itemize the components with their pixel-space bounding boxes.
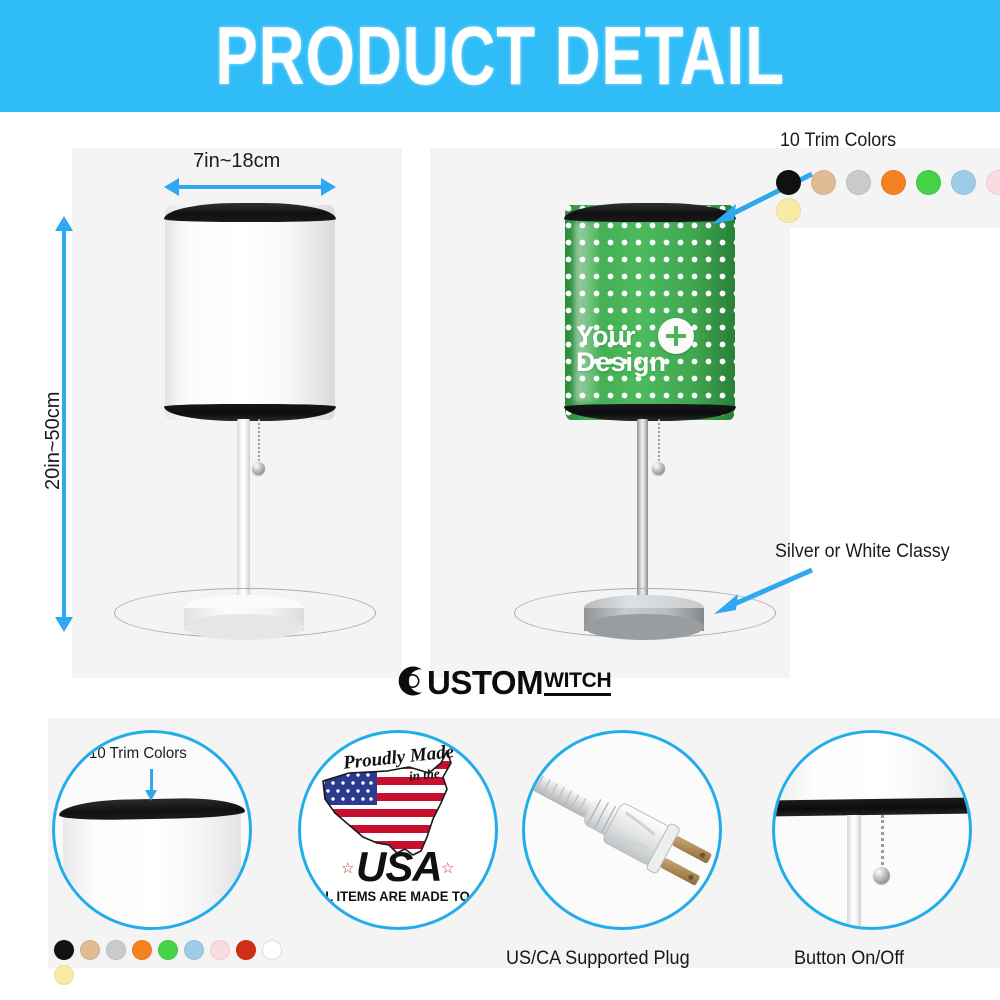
pull-chain-bead[interactable] (252, 462, 265, 475)
trim-swatch-black[interactable] (54, 940, 74, 960)
feature-button-illustration (775, 733, 969, 927)
feature-circle-plug (522, 730, 722, 930)
trim-swatch-row-bottom-1 (54, 940, 282, 960)
trim-swatch-red[interactable] (236, 940, 256, 960)
design-line-1: Your (576, 323, 726, 349)
lampshade-surface-pattern (565, 205, 735, 420)
plus-icon[interactable] (658, 318, 694, 354)
usa-line-4: ALL ITEMS ARE MADE TO ORDER! (308, 889, 498, 904)
trim-top-black (164, 203, 336, 222)
lamp-white (120, 200, 380, 650)
page-title: PRODUCT DETAIL (215, 15, 784, 98)
base-finish-label: Silver or White Classy (775, 541, 950, 563)
caption-plug: US/CA Supported Plug (506, 948, 690, 970)
trim-swatch-tan[interactable] (80, 940, 100, 960)
pull-chain[interactable] (658, 419, 660, 465)
trim-swatch-pink[interactable] (210, 940, 230, 960)
width-dimension-label: 7in~18cm (193, 150, 280, 173)
trim-swatch-row-top-1 (776, 170, 1000, 195)
trim-swatch-white[interactable] (262, 940, 282, 960)
lampshade-white (165, 205, 335, 420)
trim-swatch-orange[interactable] (132, 940, 152, 960)
trim-swatch-row-bottom-2 (54, 965, 74, 985)
lamp-pole-silver (637, 419, 648, 605)
feature-circle-trim-colors: 10 Trim Colors (52, 730, 252, 930)
usa-badge: Proudly Made in the USA ☆ ☆ ALL ITEMS AR… (301, 733, 495, 927)
design-line-2: Design (576, 349, 726, 375)
trim-swatch-green[interactable] (916, 170, 941, 195)
pull-chain[interactable] (258, 419, 260, 465)
feature-circle-button-onoff (772, 730, 972, 930)
trim-colors-label-top: 10 Trim Colors (780, 130, 896, 152)
trim-swatch-tan[interactable] (811, 170, 836, 195)
lamp-pole-closeup (847, 815, 861, 927)
trim-swatch-gray[interactable] (106, 940, 126, 960)
lamp-base-white (184, 595, 304, 640)
feature-circle-made-in-usa: Proudly Made in the USA ☆ ☆ ALL ITEMS AR… (298, 730, 498, 930)
feature-trim-label: 10 Trim Colors (89, 745, 187, 763)
brand-logo: USTOM WITCH (392, 664, 611, 698)
lamp-base-silver (584, 595, 704, 640)
pull-chain-bead[interactable] (652, 462, 665, 475)
shade-closeup-body (63, 813, 241, 927)
base-finish-pointer-arrow (700, 562, 820, 617)
width-dimension-arrow (178, 185, 322, 189)
trim-swatch-light-blue[interactable] (951, 170, 976, 195)
caption-button: Button On/Off (794, 948, 904, 970)
trim-swatch-pale-yellow[interactable] (776, 198, 801, 223)
trim-swatch-light-blue[interactable] (184, 940, 204, 960)
plus-glyph-h (666, 334, 686, 338)
power-plug-icon (525, 733, 719, 927)
trim-swatch-black[interactable] (776, 170, 801, 195)
trim-swatch-orange[interactable] (881, 170, 906, 195)
header-banner: PRODUCT DETAIL (0, 0, 1000, 112)
lampshade-surface (165, 205, 335, 420)
trim-swatch-pink[interactable] (986, 170, 1000, 195)
lamp-pole-white (237, 419, 250, 605)
height-dimension-arrow (62, 230, 66, 618)
usa-star-right-icon: ☆ (441, 859, 454, 877)
logo-c-icon (392, 664, 426, 698)
pull-chain-closeup[interactable] (881, 815, 884, 871)
logo-text-witch: WITCH (544, 672, 611, 691)
trim-swatch-row-top-2 (776, 198, 801, 223)
pull-chain-bead-closeup[interactable] (873, 867, 890, 884)
logo-text-custom: USTOM (427, 668, 543, 698)
logo-underline (544, 693, 611, 696)
lampshade-green: Your Design (565, 205, 735, 420)
usa-line-2: in the (408, 765, 440, 784)
base-bottom (584, 614, 704, 640)
trim-swatch-gray[interactable] (846, 170, 871, 195)
product-detail-infographic: PRODUCT DETAIL 7in~18cm 20in~50cm (0, 0, 1000, 1000)
logo-witch-block: WITCH (544, 672, 611, 698)
trim-swatch-green[interactable] (158, 940, 178, 960)
base-bottom (184, 614, 304, 640)
design-placeholder: Your Design (576, 323, 726, 376)
shade-closeup-trim (775, 798, 969, 817)
trim-swatch-pale-yellow[interactable] (54, 965, 74, 985)
shade-closeup-body (775, 733, 969, 803)
trim-down-arrow-icon (150, 769, 153, 791)
usa-line-3: USA (356, 843, 442, 891)
usa-star-left-icon: ☆ (341, 859, 354, 877)
